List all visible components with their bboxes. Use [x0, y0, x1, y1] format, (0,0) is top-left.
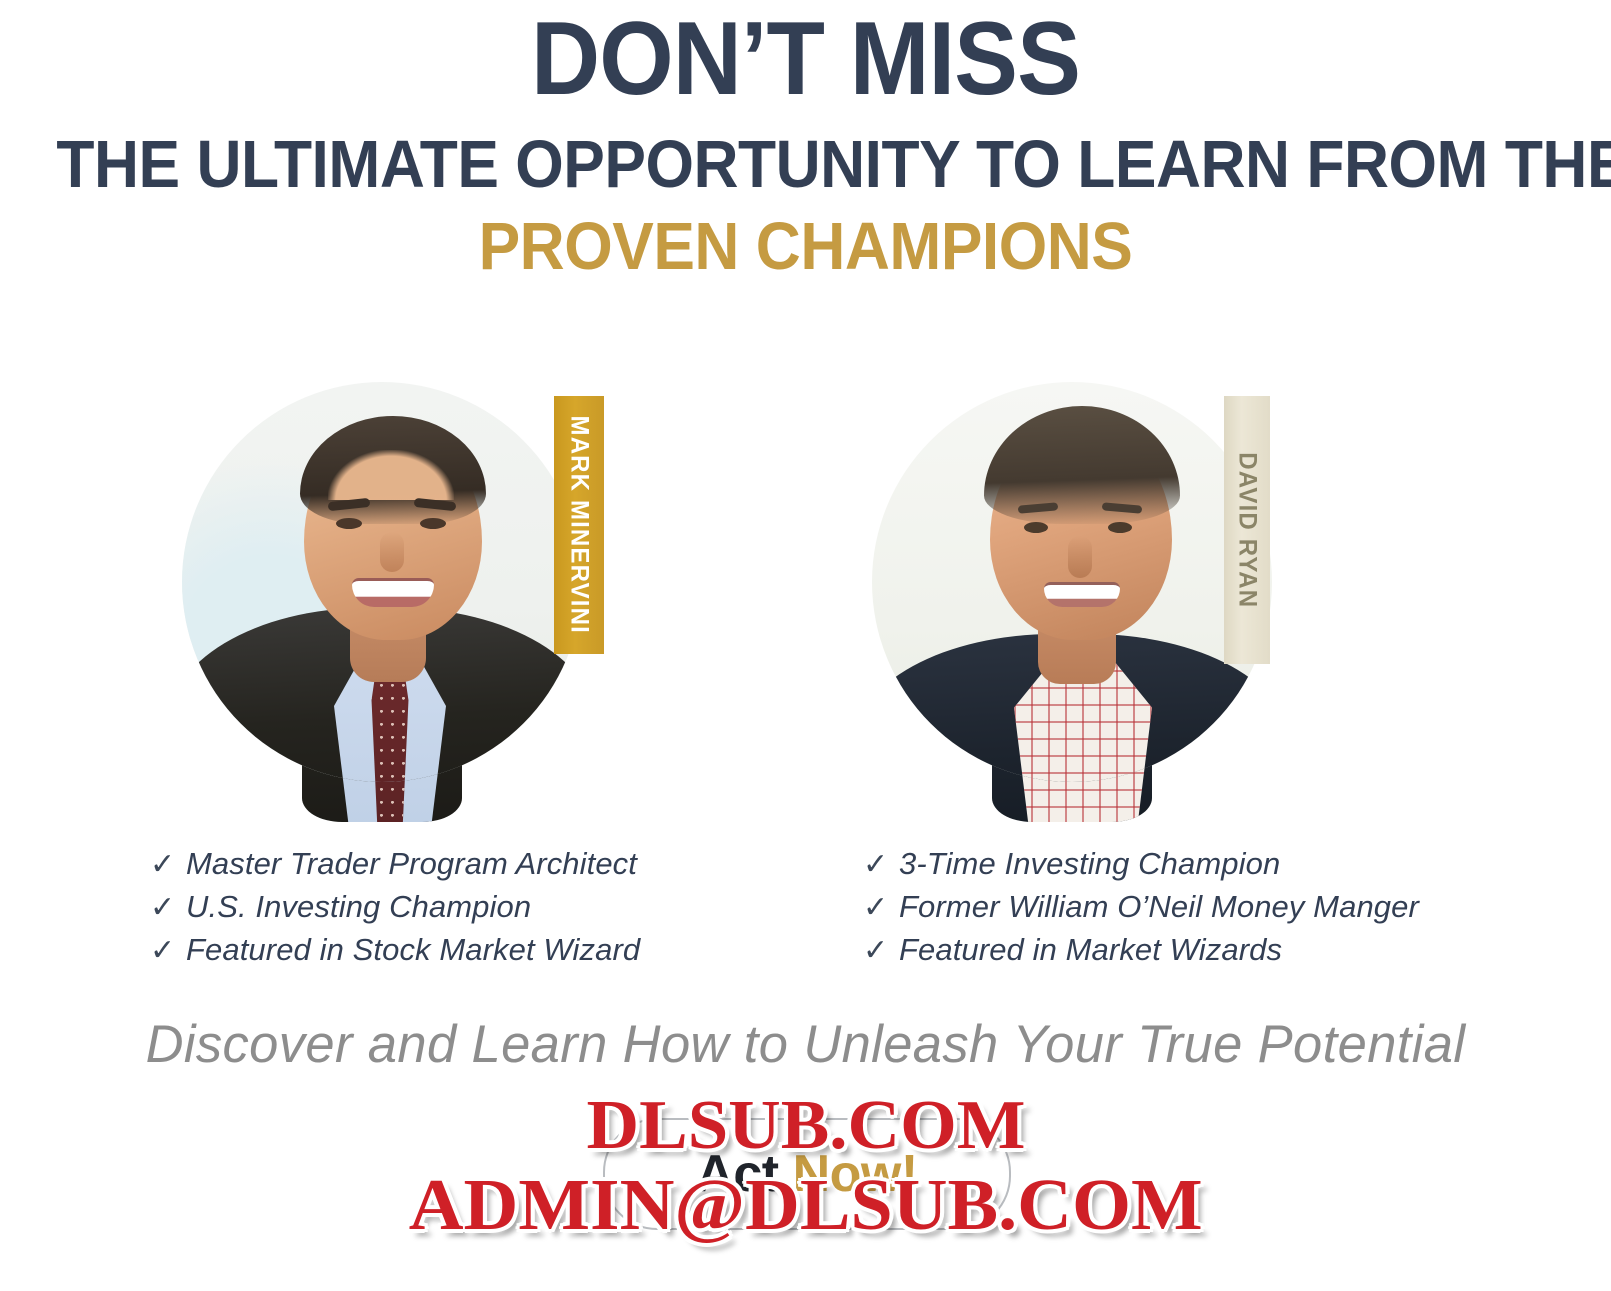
- speaker-name-label: MARK MINERVINI: [565, 416, 594, 634]
- speaker-photo-mark-minervini: [182, 382, 582, 822]
- list-item-label: Former William O’Neil Money Manger: [899, 889, 1419, 925]
- list-item: ✓ Featured in Stock Market Wizard: [150, 932, 640, 975]
- check-icon: ✓: [863, 893, 899, 923]
- portrait-nose: [380, 532, 404, 572]
- act-now-button-label: Act Now!: [696, 1144, 917, 1204]
- portrait-eye-right: [420, 518, 446, 529]
- portrait-nose: [1068, 536, 1092, 578]
- headline-block: DON’T MISS THE ULTIMATE OPPORTUNITY TO L…: [0, 0, 1611, 283]
- speaker-name-label: DAVID RYAN: [1233, 452, 1262, 608]
- speaker-card-mark-minervini: MARK MINERVINI: [182, 382, 652, 852]
- act-now-label-main: Act: [696, 1145, 792, 1203]
- list-item-label: 3-Time Investing Champion: [899, 846, 1280, 882]
- speaker-photo-david-ryan: [872, 382, 1272, 822]
- speaker-name-ribbon-mark-minervini: MARK MINERVINI: [554, 396, 604, 654]
- portrait-eye-left: [336, 518, 362, 529]
- list-item: ✓ Master Trader Program Architect: [150, 846, 640, 889]
- list-item: ✓ Featured in Market Wizards: [863, 932, 1419, 975]
- list-item-label: Featured in Stock Market Wizard: [186, 932, 640, 968]
- portrait-smile: [1044, 582, 1120, 607]
- portrait-eye-left: [1024, 522, 1048, 533]
- list-item: ✓ U.S. Investing Champion: [150, 889, 640, 932]
- speaker-name-ribbon-david-ryan: DAVID RYAN: [1224, 396, 1270, 664]
- credentials-list-david-ryan: ✓ 3-Time Investing Champion ✓ Former Wil…: [863, 846, 1419, 975]
- headline-line-1: DON’T MISS: [64, 6, 1546, 112]
- list-item-label: Featured in Market Wizards: [899, 932, 1282, 968]
- tagline: Discover and Learn How to Unleash Your T…: [8, 1014, 1603, 1075]
- act-now-label-accent: Now!: [793, 1145, 918, 1203]
- speaker-portrait-image: [182, 382, 582, 782]
- check-icon: ✓: [150, 893, 186, 923]
- speakers-row: MARK MINERVINI: [0, 382, 1611, 852]
- headline-line-3-accent: PROVEN CHAMPIONS: [56, 212, 1554, 282]
- act-now-button[interactable]: Act Now!: [603, 1118, 1011, 1230]
- list-item: ✓ Former William O’Neil Money Manger: [863, 889, 1419, 932]
- portrait-smile: [352, 578, 434, 607]
- portrait-eye-right: [1108, 522, 1132, 533]
- check-icon: ✓: [863, 936, 899, 966]
- check-icon: ✓: [863, 850, 899, 880]
- check-icon: ✓: [150, 936, 186, 966]
- check-icon: ✓: [150, 850, 186, 880]
- headline-line-2: THE ULTIMATE OPPORTUNITY TO LEARN FROM T…: [56, 130, 1554, 200]
- list-item-label: Master Trader Program Architect: [186, 846, 637, 882]
- list-item-label: U.S. Investing Champion: [186, 889, 531, 925]
- speaker-portrait-image: [872, 382, 1272, 782]
- list-item: ✓ 3-Time Investing Champion: [863, 846, 1419, 889]
- credentials-list-mark-minervini: ✓ Master Trader Program Architect ✓ U.S.…: [150, 846, 640, 975]
- speaker-card-david-ryan: DAVID RYAN: [872, 382, 1342, 852]
